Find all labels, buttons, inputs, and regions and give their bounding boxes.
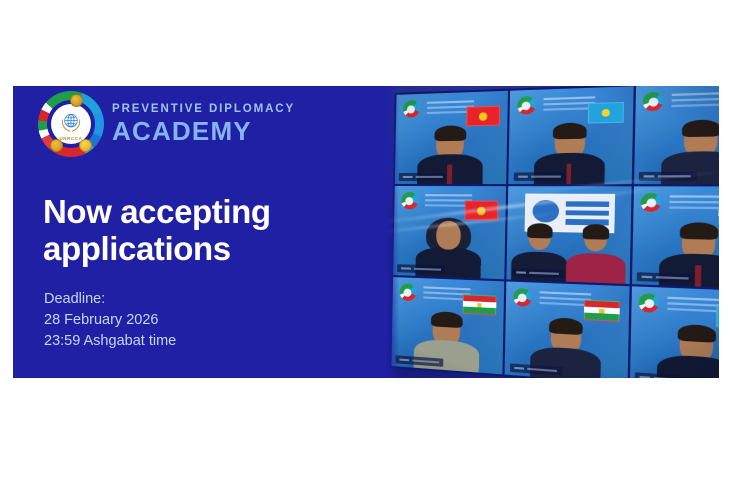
- video-tile: [391, 277, 504, 374]
- logo-badge-icon: [79, 139, 92, 152]
- avatar-tie: [447, 165, 452, 184]
- kyrgyzstan-flag-icon: [466, 106, 499, 127]
- avatar-body: [414, 339, 479, 373]
- tile-logo-text: [672, 92, 719, 111]
- tajikistan-flag-icon: [463, 294, 496, 315]
- video-tile: [632, 186, 719, 289]
- brand-line-academy: ACADEMY: [112, 118, 295, 144]
- kyrgyzstan-flag-icon: [465, 201, 498, 221]
- headline-line-2: applications: [43, 231, 271, 268]
- un-emblem-icon: [57, 109, 85, 135]
- participant-avatar: [569, 226, 623, 283]
- panel-photo-blend: [373, 86, 399, 378]
- avatar-tie: [695, 265, 701, 286]
- kazakhstan-flag-icon: [587, 102, 624, 124]
- deadline-block: Deadline: 28 February 2026 23:59 Ashgaba…: [44, 289, 176, 352]
- uzbekistan-flag-icon: [718, 203, 719, 225]
- logo-center-disc: UNRCCA: [51, 104, 91, 144]
- video-tile: [395, 91, 508, 184]
- avatar-hair: [583, 224, 610, 239]
- tile-logo-text: [670, 195, 719, 212]
- participant-nameplate: [639, 172, 697, 181]
- avatar-hair: [682, 119, 719, 137]
- participant-avatar: [659, 325, 719, 378]
- video-tile: [507, 186, 631, 284]
- avatar-hair: [431, 311, 463, 328]
- avatar-body: [416, 247, 482, 278]
- deadline-time: 23:59 Ashgabat time: [44, 331, 176, 352]
- banner-text-lines: [565, 201, 608, 226]
- poster-banner: UNRCCA PREVENTIVE DIPLOMACY ACADEMY Now …: [13, 86, 719, 378]
- headline-line-1: Now accepting: [43, 194, 271, 231]
- deadline-label: Deadline:: [44, 289, 176, 310]
- academy-logo-icon: [401, 192, 418, 209]
- avatar-tie: [566, 164, 572, 184]
- avatar-body: [566, 253, 625, 284]
- video-tile: [630, 286, 719, 378]
- logo-badge-icon: [50, 139, 63, 152]
- poster-text-panel: UNRCCA PREVENTIVE DIPLOMACY ACADEMY Now …: [13, 86, 387, 378]
- video-tile: [509, 86, 634, 184]
- tile-logo-text: [667, 297, 719, 316]
- video-tile: [393, 186, 506, 279]
- video-tile: [634, 86, 719, 184]
- participant-nameplate: [513, 173, 566, 182]
- brand-wordmark: PREVENTIVE DIPLOMACY ACADEMY: [112, 104, 295, 144]
- kazakhstan-flag-icon: [716, 306, 719, 330]
- brand-lockup: UNRCCA PREVENTIVE DIPLOMACY ACADEMY: [38, 91, 295, 157]
- tajikistan-flag-icon: [583, 300, 620, 322]
- deadline-date: 28 February 2026: [44, 310, 176, 331]
- participant-nameplate: [399, 173, 447, 181]
- avatar-hair: [527, 223, 552, 238]
- avatar-hair: [552, 122, 587, 139]
- avatar-hair: [548, 317, 583, 335]
- un-emblem-icon: [532, 200, 558, 223]
- logo-badge-icon: [70, 94, 83, 107]
- brand-line-preventive-diplomacy: PREVENTIVE DIPLOMACY: [112, 104, 295, 116]
- video-wall: [389, 86, 719, 378]
- avatar-hair: [435, 125, 467, 141]
- avatar-head: [436, 221, 461, 250]
- conference-photo: [381, 86, 719, 378]
- video-tile: [505, 281, 629, 378]
- logo-unrcca-label: UNRCCA: [59, 136, 82, 141]
- preventive-diplomacy-academy-logo-icon: UNRCCA: [38, 91, 104, 157]
- page-title: Now accepting applications: [43, 194, 271, 268]
- avatar-hair: [680, 222, 718, 240]
